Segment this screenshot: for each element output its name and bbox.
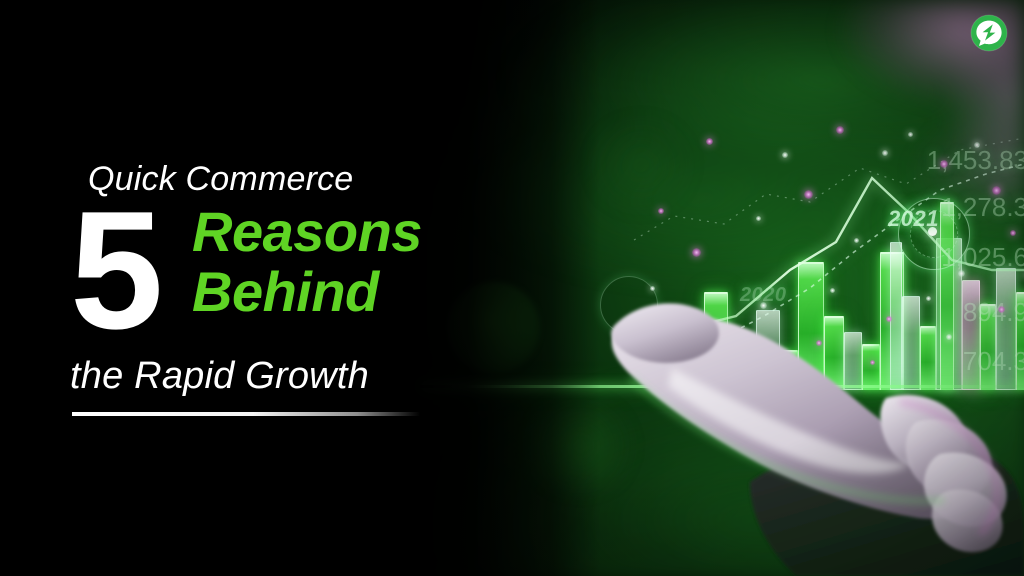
particle-dot <box>958 270 965 277</box>
readout-1: 1,453.83 <box>927 145 1024 176</box>
particle-dot <box>780 366 786 372</box>
particle-dot <box>760 302 767 309</box>
chart-bar <box>730 340 754 390</box>
bokeh-orb-lower <box>520 398 640 494</box>
readout-5: 704.3 <box>963 346 1024 377</box>
particle-dot <box>992 186 1001 195</box>
particle-dot <box>926 296 931 301</box>
headline-underline-rule <box>72 412 420 416</box>
particle-dot <box>756 216 761 221</box>
bokeh-orb-center <box>448 282 540 374</box>
radar-center-dot <box>928 227 937 236</box>
trend-line-primary <box>640 120 1024 390</box>
chart-bar <box>798 262 824 390</box>
particle-dot <box>870 360 875 365</box>
chart-bar <box>844 332 862 390</box>
chart-bar <box>996 268 1016 390</box>
headline-line-reasons: Reasons <box>192 202 422 262</box>
particle-dot <box>886 316 892 322</box>
particle-dot <box>974 142 980 148</box>
hologram-bar-chart: 2021 2020 1,453.831,278.31,025.6894.9704… <box>640 120 1024 390</box>
particle-dot <box>680 334 686 340</box>
chart-bar <box>880 252 904 390</box>
particle-dot <box>658 208 664 214</box>
year-label-2020: 2020 <box>740 284 787 307</box>
particle-dot <box>830 288 835 293</box>
subheadline-text: the Rapid Growth <box>70 355 369 398</box>
brand-logo[interactable] <box>970 14 1008 52</box>
chart-bar <box>890 242 902 390</box>
particle-dot <box>706 138 713 145</box>
chart-bar <box>684 366 704 390</box>
particle-dot <box>692 248 701 257</box>
chart-bar <box>940 202 954 390</box>
particle-dot <box>1010 230 1016 236</box>
lightning-bolt-chat-logo-icon <box>970 14 1008 52</box>
particle-dot <box>836 126 844 134</box>
readout-4: 894.9 <box>963 297 1024 328</box>
chart-bar <box>920 326 936 390</box>
readout-2: 1,278.3 <box>941 192 1024 223</box>
chart-bar <box>936 238 962 390</box>
particle-dot <box>728 326 733 331</box>
chart-bar <box>862 344 880 390</box>
chart-bar <box>704 292 728 390</box>
chart-bar <box>902 296 920 390</box>
radar-ring-inner <box>910 210 958 258</box>
chart-bar <box>756 310 780 390</box>
chart-baseline-glow <box>420 385 1024 388</box>
particle-dot <box>816 340 822 346</box>
particle-dot <box>804 190 813 199</box>
particle-dot <box>998 306 1005 313</box>
particle-dot <box>882 150 888 156</box>
big-number-five: 5 <box>70 186 157 354</box>
particle-dot <box>650 286 655 291</box>
radar-ring-left <box>600 276 658 334</box>
particle-dot <box>908 132 913 137</box>
chart-bar <box>1016 292 1024 390</box>
promo-banner: 2021 2020 1,453.831,278.31,025.6894.9704… <box>0 0 1024 576</box>
chart-bar <box>962 280 980 390</box>
chart-bar <box>824 316 844 390</box>
particle-dot <box>854 238 859 243</box>
chart-bar <box>980 304 996 390</box>
particle-dot <box>946 334 952 340</box>
trend-line-dashed <box>640 120 1024 390</box>
chart-bar <box>658 358 682 390</box>
particle-dot <box>782 152 788 158</box>
particle-dot <box>940 160 948 168</box>
chart-bar <box>780 350 798 390</box>
year-label-2021: 2021 <box>888 206 939 232</box>
headline-line-behind: Behind <box>192 262 422 322</box>
headline-green-lines: Reasons Behind <box>192 202 422 322</box>
bokeh-orb-top <box>586 120 696 210</box>
radar-ring-outer <box>898 198 970 270</box>
readout-3: 1,025.6 <box>941 242 1024 273</box>
open-hand-photo <box>600 282 1024 576</box>
